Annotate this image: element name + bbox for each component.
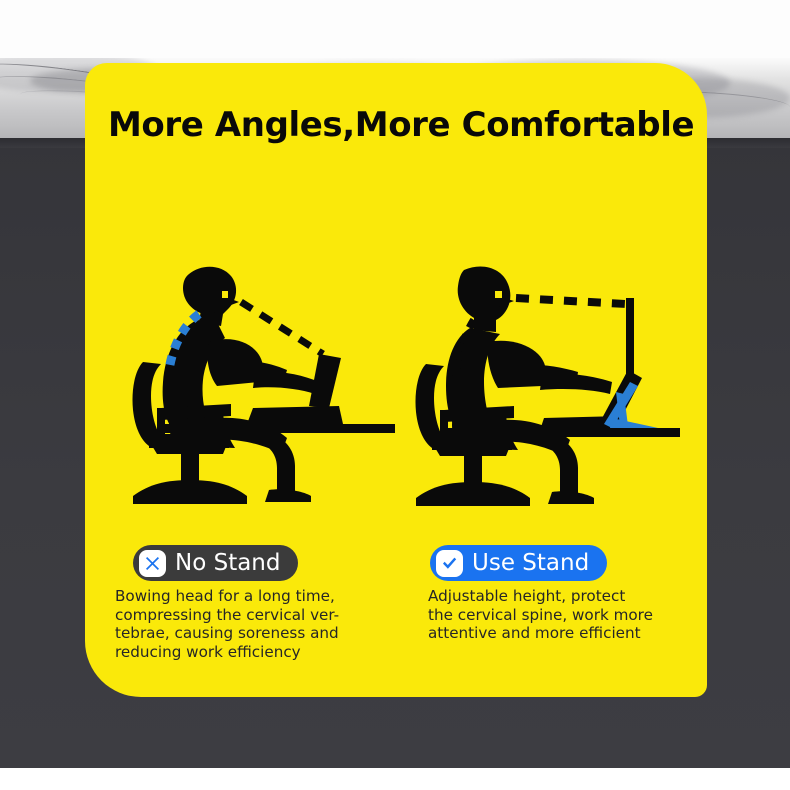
status-badge-use-stand[interactable]: Use Stand [430,545,607,581]
laptop-elevated [540,298,642,430]
cross-icon [139,550,166,577]
upright-person-laptop-stand-figure [390,258,680,508]
status-badge-label: No Stand [175,552,280,575]
infographic-card: More Angles,More Comfortable [85,63,707,697]
eye-highlight [495,291,502,298]
illustration-use-stand [390,258,680,508]
page-title: More Angles,More Comfortable [108,105,694,145]
desk-surface [448,428,680,437]
sight-line-dashes [516,298,626,304]
check-icon [436,550,463,577]
background-bottom-white-band [0,768,790,790]
background-top-white-band [0,0,790,60]
status-badge-label: Use Stand [472,552,589,575]
caption-use-stand: Adjustable height, protect the cervical … [428,587,678,643]
caption-no-stand: Bowing head for a long time, compressing… [115,587,365,661]
desk-surface [165,424,395,433]
illustration-no-stand [105,258,395,508]
status-badge-no-stand[interactable]: No Stand [133,545,298,581]
hunched-person-laptop-figure [105,258,395,508]
sight-line-dashes [241,302,323,354]
screenshot-root: More Angles,More Comfortable [0,0,790,790]
eye-highlight [222,291,228,298]
